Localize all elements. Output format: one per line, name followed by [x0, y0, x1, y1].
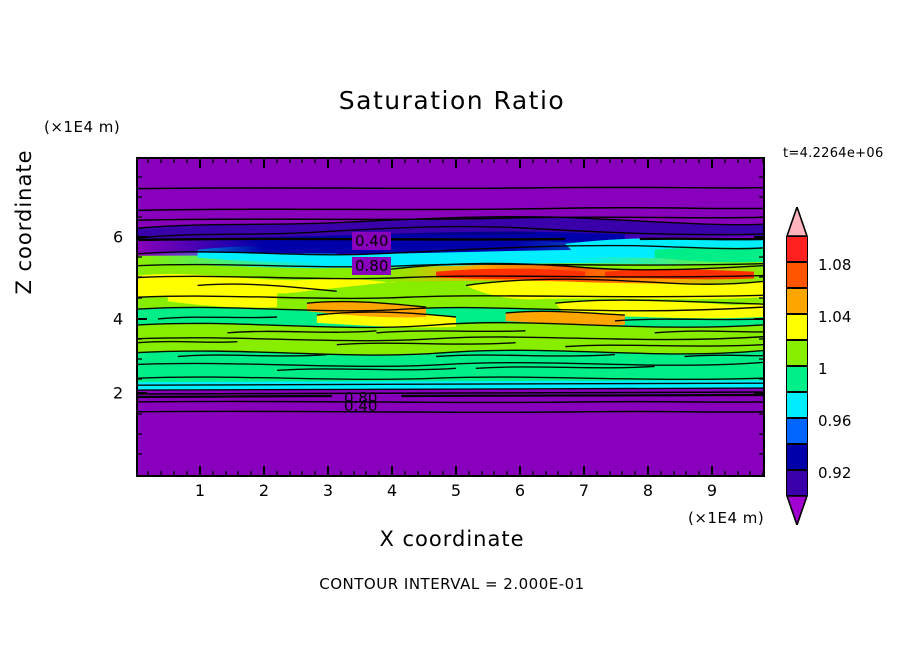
colorbar-tick-label: 1 [818, 360, 828, 378]
contour-label-0.40-upper: 0.40 [352, 232, 391, 250]
colorbar-band [786, 470, 808, 496]
colorbar[interactable]: 1.08 1.04 1 0.96 0.92 [780, 203, 814, 529]
colorbar-band [786, 262, 808, 288]
y-axis-title: Z coordinate [12, 112, 36, 332]
x-tick-label: 3 [323, 481, 333, 500]
y-tick-label: 2 [113, 384, 123, 403]
colorbar-band [786, 444, 808, 470]
y-axis-unit-label: (×1E4 m) [44, 118, 120, 136]
colorbar-band [786, 236, 808, 262]
colorbar-top-cap-icon [786, 207, 808, 237]
colorbar-tick-label: 0.96 [818, 412, 851, 430]
x-tick-label: 1 [195, 481, 205, 500]
x-tick-label: 6 [515, 481, 525, 500]
colorbar-band [786, 392, 808, 418]
contour-plot-area[interactable]: 0.40 0.80 0.80 0.40 [136, 157, 765, 477]
x-tick-label: 8 [643, 481, 653, 500]
y-tick-label: 6 [113, 228, 123, 247]
x-tick-label: 7 [579, 481, 589, 500]
x-tick-label: 5 [451, 481, 461, 500]
x-axis-title: X coordinate [0, 527, 904, 551]
contour-label-0.80-upper: 0.80 [352, 257, 391, 275]
colorbar-band [786, 288, 808, 314]
colorbar-band [786, 314, 808, 340]
colorbar-tick-label: 1.04 [818, 308, 851, 326]
timestamp-label: t=4.2264e+06 [783, 146, 884, 161]
contour-label-0.40-lower: 0.40 [344, 397, 377, 415]
x-tick-label: 9 [707, 481, 717, 500]
page-title: Saturation Ratio [0, 86, 904, 115]
colorbar-bottom-cap-icon [786, 495, 808, 525]
colorbar-band [786, 340, 808, 366]
y-tick-label: 4 [113, 310, 123, 329]
contour-field [138, 159, 763, 475]
contour-interval-caption: CONTOUR INTERVAL = 2.000E-01 [0, 575, 904, 593]
colorbar-tick-label: 0.92 [818, 464, 851, 482]
colorbar-tick-label: 1.08 [818, 256, 851, 274]
x-tick-label: 4 [387, 481, 397, 500]
colorbar-band [786, 418, 808, 444]
colorbar-band [786, 366, 808, 392]
x-axis-unit-label: (×1E4 m) [688, 509, 764, 527]
x-tick-label: 2 [259, 481, 269, 500]
